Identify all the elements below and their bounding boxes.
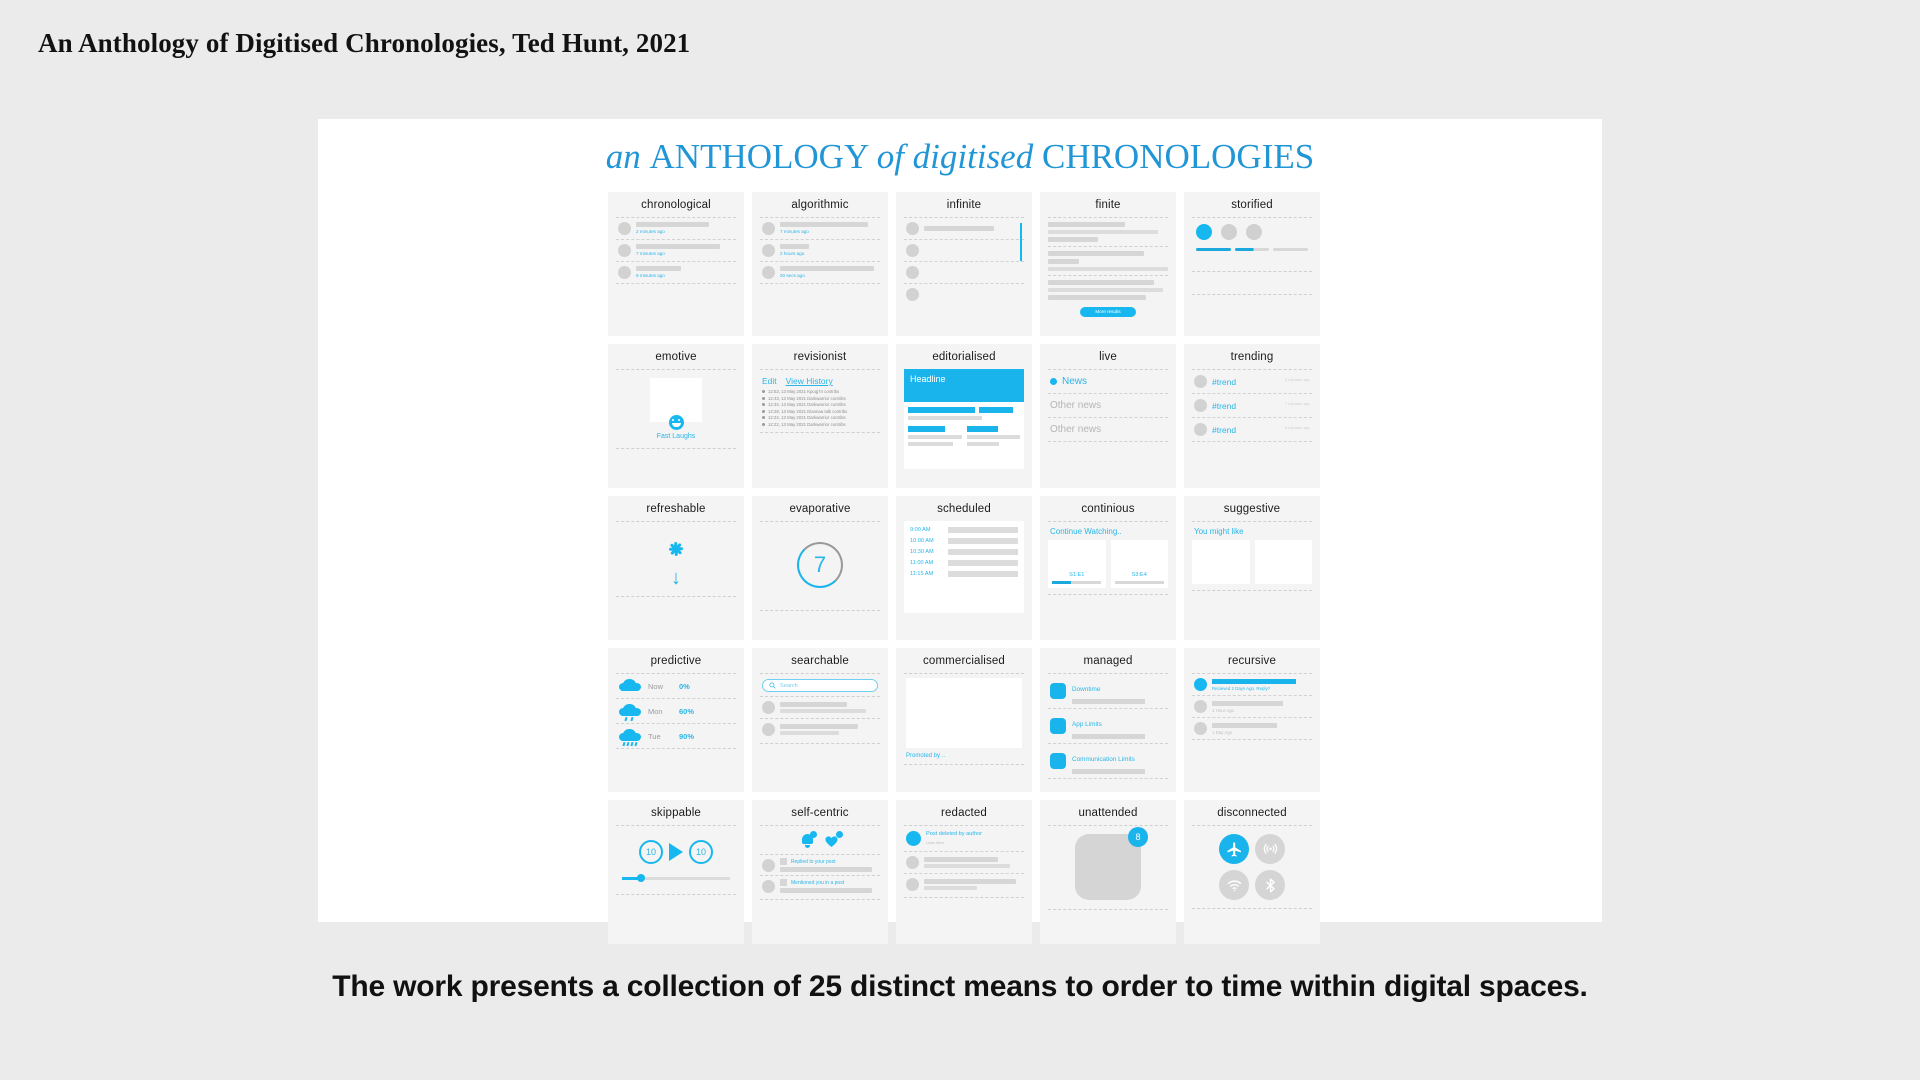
downtime-icon: [1050, 683, 1066, 699]
forecast-day: Now: [648, 682, 672, 691]
schedule-row[interactable]: 11:15 AM: [910, 571, 1018, 577]
live-item-label: Other news: [1050, 400, 1101, 411]
fast-laughs-label[interactable]: Fast Laughs: [616, 433, 736, 440]
avatar: [762, 723, 775, 736]
schedule-row[interactable]: 11:00 AM: [910, 560, 1018, 566]
forecast-day: Tue: [648, 732, 672, 741]
cloud-icon: [619, 679, 641, 693]
card-title: editorialised: [904, 351, 1024, 363]
list-item[interactable]: [904, 240, 1024, 262]
episode-tile[interactable]: S3:E4: [1111, 540, 1169, 588]
avatar: [906, 856, 919, 869]
card-title: live: [1048, 351, 1168, 363]
bluetooth-icon[interactable]: [1255, 870, 1285, 900]
article-column: [908, 426, 962, 446]
slider-knob[interactable]: [637, 874, 645, 882]
learn-more-link[interactable]: Learn More: [926, 841, 1022, 845]
timestamp: 2 minutes ago: [636, 229, 734, 235]
list-item[interactable]: [904, 262, 1024, 284]
avatar: [906, 831, 921, 846]
result-group: [1048, 276, 1168, 300]
setting-label: Downtime: [1072, 686, 1100, 693]
avatar: [1194, 722, 1207, 735]
promoted-by-label: Promoted by ..: [904, 748, 1024, 759]
revision-entry: 12:34, 13 May 2021 Darkwarrior contribs: [768, 402, 846, 407]
forecast-day: Mon: [648, 707, 672, 716]
list-item[interactable]: 9 minutes ago: [616, 262, 736, 284]
skip-back-10-button[interactable]: 10: [639, 840, 663, 864]
card-title: redacted: [904, 807, 1024, 819]
list-item[interactable]: 12:24, 13 May 2021 Darkwarrior contribs: [762, 415, 880, 420]
card-title: predictive: [616, 655, 736, 667]
card-title: evaporative: [760, 503, 880, 515]
setting-row[interactable]: Communication Limits: [1048, 744, 1168, 779]
countdown-timer: 7: [797, 542, 843, 588]
card-disconnected[interactable]: disconnected: [1184, 800, 1320, 944]
app-icon[interactable]: 8: [1075, 834, 1141, 900]
card-redacted[interactable]: redacted Post deleted by author Learn Mo…: [896, 800, 1032, 944]
list-item[interactable]: #trend 9 minutes ago: [1192, 418, 1312, 442]
cellular-icon[interactable]: [1255, 834, 1285, 864]
schedule-time: 10:00 AM: [910, 538, 942, 544]
card-live[interactable]: live News Other news Other news: [1040, 344, 1176, 488]
forecast-row[interactable]: Tue 90%: [616, 724, 736, 749]
timestamp: 7 minutes ago: [1285, 399, 1310, 406]
schedule-row[interactable]: 10:30 AM: [910, 549, 1018, 555]
card-title: infinite: [904, 199, 1024, 211]
setting-row[interactable]: Downtime: [1048, 674, 1168, 709]
list-item[interactable]: 12:28, 13 May 2021 Diannaa talk contribs: [762, 409, 880, 414]
revision-entry: 12:24, 13 May 2021 Darkwarrior contribs: [768, 415, 846, 420]
story-progress: [1192, 240, 1312, 251]
card-title: continious: [1048, 503, 1168, 515]
episode-code: S3:E4: [1132, 572, 1147, 578]
article-layout: Headline: [904, 369, 1024, 469]
card-finite[interactable]: finite More results: [1040, 192, 1176, 336]
timestamp: 9 minutes ago: [636, 273, 734, 279]
search-input[interactable]: Search: [762, 679, 878, 692]
notification-text: Mentioned you in a post: [791, 880, 844, 886]
card-title: unattended: [1048, 807, 1168, 819]
story-avatars[interactable]: [1192, 218, 1312, 240]
avatar: [762, 222, 775, 235]
hashtag[interactable]: #trend: [1212, 401, 1280, 411]
card-evaporative[interactable]: evaporative 7: [752, 496, 888, 640]
list-item[interactable]: [904, 284, 1024, 305]
artwork-panel: an ANTHOLOGY of digitised CHRONOLOGIES c…: [318, 119, 1602, 922]
deleted-post[interactable]: Post deleted by author Learn More: [904, 826, 1024, 852]
avatar: [618, 222, 631, 235]
avatar: [618, 266, 631, 279]
suggestion-tile[interactable]: [1255, 540, 1313, 584]
schedule-row[interactable]: 10:00 AM: [910, 538, 1018, 544]
list-item[interactable]: 2 hours ago: [760, 240, 880, 262]
avatar: [906, 244, 919, 257]
card-title: self-centric: [760, 807, 880, 819]
notification-text: Recieved 2 Days Ago. Reply?: [1212, 686, 1310, 691]
card-editorialised[interactable]: editorialised Headline: [896, 344, 1032, 488]
wifi-icon[interactable]: [1219, 870, 1249, 900]
card-title: refreshable: [616, 503, 736, 515]
timestamp: 20 secs ago: [780, 273, 878, 279]
avatar: [1194, 423, 1207, 436]
card-title: searchable: [760, 655, 880, 667]
schedule-list: 9:00 AM 10:00 AM 10:30 AM 11:00 AM 11:15…: [904, 521, 1024, 613]
loading-spinner-icon: [663, 536, 689, 562]
slide: An Anthology of Digitised Chronologies, …: [0, 0, 1920, 1080]
artwork-title-part-chronologies: CHRONOLOGIES: [1042, 137, 1314, 176]
card-title: emotive: [616, 351, 736, 363]
list-item[interactable]: [904, 874, 1024, 895]
artwork-title-part-anthology: ANTHOLOGY: [650, 137, 877, 176]
forecast-value: 90%: [679, 732, 694, 741]
card-trending[interactable]: trending #trend 2 minutes ago #trend 7 m…: [1184, 344, 1320, 488]
search-icon: [769, 682, 776, 689]
list-item[interactable]: 20 secs ago: [760, 262, 880, 284]
setting-label: App Limits: [1072, 721, 1102, 728]
live-item-label: Other news: [1050, 424, 1101, 435]
story-avatar-active[interactable]: [1196, 224, 1212, 240]
view-history-link[interactable]: View History: [786, 376, 833, 386]
card-algorithmic[interactable]: algorithmic 7 minutes ago 2 hours ago: [752, 192, 888, 336]
list-item[interactable]: [904, 218, 1024, 240]
card-managed[interactable]: managed Downtime App Limits Communicatio…: [1040, 648, 1176, 792]
avatar: [762, 880, 775, 893]
headline: Headline: [904, 369, 1024, 402]
card-title: suggestive: [1192, 503, 1312, 515]
list-item[interactable]: 1 Hour Ago: [1192, 696, 1312, 718]
list-item[interactable]: News: [1048, 370, 1168, 394]
card-title: trending: [1192, 351, 1312, 363]
list-item[interactable]: 7 minutes ago: [616, 240, 736, 262]
edit-link[interactable]: Edit: [762, 376, 777, 386]
schedule-time: 11:15 AM: [910, 571, 942, 577]
avatar: [906, 266, 919, 279]
suggestion-tile[interactable]: [1192, 540, 1250, 584]
hashtag[interactable]: #trend: [1212, 377, 1280, 387]
card-title: skippable: [616, 807, 736, 819]
schedule-time: 10:30 AM: [910, 549, 942, 555]
deleted-notice: Post deleted by author: [926, 831, 1022, 837]
list-item[interactable]: [904, 852, 1024, 874]
article-column: [967, 426, 1021, 446]
card-emotive[interactable]: emotive Fast Laughs: [608, 344, 744, 488]
list-item[interactable]: 12:43, 13 May 2021 Darkwarrior contribs: [762, 396, 880, 401]
card-title: finite: [1048, 199, 1168, 211]
laughing-face-icon: [669, 415, 684, 430]
card-refreshable[interactable]: refreshable ↓: [608, 496, 744, 640]
card-revisionist[interactable]: revisionist Edit View History 12:53, 13 …: [752, 344, 888, 488]
notification-text: Replied to your post: [791, 859, 835, 865]
list-item[interactable]: Replied to your post: [760, 855, 880, 875]
list-item[interactable]: Other news: [1048, 394, 1168, 418]
avatar: [1194, 700, 1207, 713]
card-commercialised[interactable]: commercialised Promoted by ..: [896, 648, 1032, 792]
timestamp: 2 minutes ago: [1285, 375, 1310, 382]
schedule-time: 11:00 AM: [910, 560, 942, 566]
list-item[interactable]: 12:22, 13 May 2021 Darkwarrior contribs: [762, 422, 880, 427]
avatar: [906, 288, 919, 301]
play-button[interactable]: [669, 843, 683, 861]
card-predictive[interactable]: predictive Now 0% Mon 60%: [608, 648, 744, 792]
slide-title: An Anthology of Digitised Chronologies, …: [38, 28, 690, 59]
forecast-value: 0%: [679, 682, 690, 691]
progress-bar: [1052, 581, 1101, 584]
story-avatar[interactable]: [1246, 224, 1262, 240]
live-item-label: News: [1062, 376, 1087, 387]
revision-entry: 12:53, 13 May 2021 Kpoqj74 contribs: [768, 389, 839, 394]
revision-entry: 12:22, 13 May 2021 Darkwarrior contribs: [768, 422, 846, 427]
artwork-title-part-of-digitised: of digitised: [877, 137, 1042, 176]
card-chronological[interactable]: chronological 2 minutes ago 7 minutes ag…: [608, 192, 744, 336]
list-item[interactable]: 1 Day Ago: [1192, 718, 1312, 740]
artwork-title-part-an: an: [606, 137, 650, 176]
list-item[interactable]: 2 minutes ago: [616, 218, 736, 240]
forecast-value: 60%: [679, 707, 694, 716]
more-results-button[interactable]: More results: [1080, 307, 1136, 317]
card-title: algorithmic: [760, 199, 880, 211]
avatar: [906, 878, 919, 891]
scrollbar[interactable]: [1020, 223, 1023, 261]
avatar: [1194, 399, 1207, 412]
hashtag[interactable]: #trend: [1212, 425, 1280, 435]
timestamp: 2 hours ago: [780, 251, 878, 257]
avatar: [762, 266, 775, 279]
communication-limits-icon: [1050, 753, 1066, 769]
list-item[interactable]: Mentioned you in a post: [760, 876, 880, 896]
list-item[interactable]: 12:34, 13 May 2021 Darkwarrior contribs: [762, 402, 880, 407]
schedule-time: 9:00 AM: [910, 527, 942, 533]
avatar: [1194, 375, 1207, 388]
card-title: scheduled: [904, 503, 1024, 515]
playback-slider[interactable]: [622, 877, 730, 880]
list-item[interactable]: Recieved 2 Days Ago. Reply?: [1192, 674, 1312, 696]
revision-list: 12:53, 13 May 2021 Kpoqj74 contribs 12:4…: [760, 389, 880, 427]
timestamp: 7 minutes ago: [780, 229, 878, 235]
continue-watching-label: Continue Watching..: [1048, 522, 1168, 540]
list-item[interactable]: #trend 2 minutes ago: [1192, 370, 1312, 394]
notification-badge: 8: [1128, 827, 1148, 847]
list-item[interactable]: #trend 7 minutes ago: [1192, 394, 1312, 418]
forecast-row[interactable]: Now 0%: [616, 674, 736, 699]
list-item[interactable]: [760, 697, 880, 718]
timestamp: 7 minutes ago: [636, 251, 734, 257]
app-limits-icon: [1050, 718, 1066, 734]
artwork-title: an ANTHOLOGY of digitised CHRONOLOGIES: [318, 137, 1602, 177]
timestamp: 9 minutes ago: [1285, 423, 1310, 430]
cloud-heavy-rain-icon: [619, 729, 641, 743]
card-unattended[interactable]: unattended 8: [1040, 800, 1176, 944]
list-item[interactable]: [760, 719, 880, 740]
slide-caption: The work presents a collection of 25 dis…: [0, 970, 1920, 1004]
you-might-like-label: You might like: [1192, 522, 1312, 540]
skip-forward-10-button[interactable]: 10: [689, 840, 713, 864]
cloud-rain-icon: [619, 704, 641, 718]
card-storified[interactable]: storified: [1184, 192, 1320, 336]
card-title: chronological: [616, 199, 736, 211]
card-infinite[interactable]: infinite: [896, 192, 1032, 336]
card-title: storified: [1192, 199, 1312, 211]
notification-text: 1 Hour Ago: [1212, 708, 1310, 713]
list-item[interactable]: 7 minutes ago: [760, 218, 880, 240]
avatar: [906, 222, 919, 235]
episode-code: S1:E1: [1069, 572, 1084, 578]
episode-tile[interactable]: S1:E1: [1048, 540, 1106, 588]
card-recursive[interactable]: recursive Recieved 2 Days Ago. Reply? 1 …: [1184, 648, 1320, 792]
setting-label: Communication Limits: [1072, 756, 1135, 763]
pull-to-refresh-arrow-icon: ↓: [616, 568, 736, 588]
forecast-row[interactable]: Mon 60%: [616, 699, 736, 724]
card-title: commercialised: [904, 655, 1024, 667]
live-indicator-icon: [1050, 378, 1057, 385]
card-title: revisionist: [760, 351, 880, 363]
schedule-row[interactable]: 9:00 AM: [910, 527, 1018, 533]
story-avatar[interactable]: [1221, 224, 1237, 240]
avatar: [762, 859, 775, 872]
card-title: managed: [1048, 655, 1168, 667]
revision-entry: 12:28, 13 May 2021 Diannaa talk contribs: [768, 409, 847, 414]
result-group: [1048, 218, 1168, 242]
avatar: [1194, 678, 1207, 691]
avatar: [618, 244, 631, 257]
heart-like-icon: [825, 833, 841, 848]
airplane-mode-icon[interactable]: [1219, 834, 1249, 864]
avatar: [762, 701, 775, 714]
card-title: disconnected: [1192, 807, 1312, 819]
card-title: recursive: [1192, 655, 1312, 667]
list-item[interactable]: Other news: [1048, 418, 1168, 442]
notification-text: 1 Day Ago: [1212, 730, 1310, 735]
card-skippable[interactable]: skippable 10 10: [608, 800, 744, 944]
search-placeholder: Search: [780, 683, 798, 689]
card-self-centric[interactable]: self-centric Replied to your post: [752, 800, 888, 944]
bell-notification-icon: [800, 833, 815, 848]
progress-bar: [1115, 581, 1164, 584]
card-scheduled[interactable]: scheduled 9:00 AM 10:00 AM 10:30 AM 11:0…: [896, 496, 1032, 640]
setting-row[interactable]: App Limits: [1048, 709, 1168, 744]
chronology-card-grid: chronological 2 minutes ago 7 minutes ag…: [608, 192, 1322, 944]
revision-entry: 12:43, 13 May 2021 Darkwarrior contribs: [768, 396, 846, 401]
result-group: [1048, 247, 1168, 271]
promoted-image[interactable]: [906, 678, 1022, 748]
card-searchable[interactable]: searchable Search: [752, 648, 888, 792]
card-continious[interactable]: continious Continue Watching.. S1:E1 S3:…: [1040, 496, 1176, 640]
list-item[interactable]: 12:53, 13 May 2021 Kpoqj74 contribs: [762, 389, 880, 394]
card-suggestive[interactable]: suggestive You might like: [1184, 496, 1320, 640]
avatar: [762, 244, 775, 257]
